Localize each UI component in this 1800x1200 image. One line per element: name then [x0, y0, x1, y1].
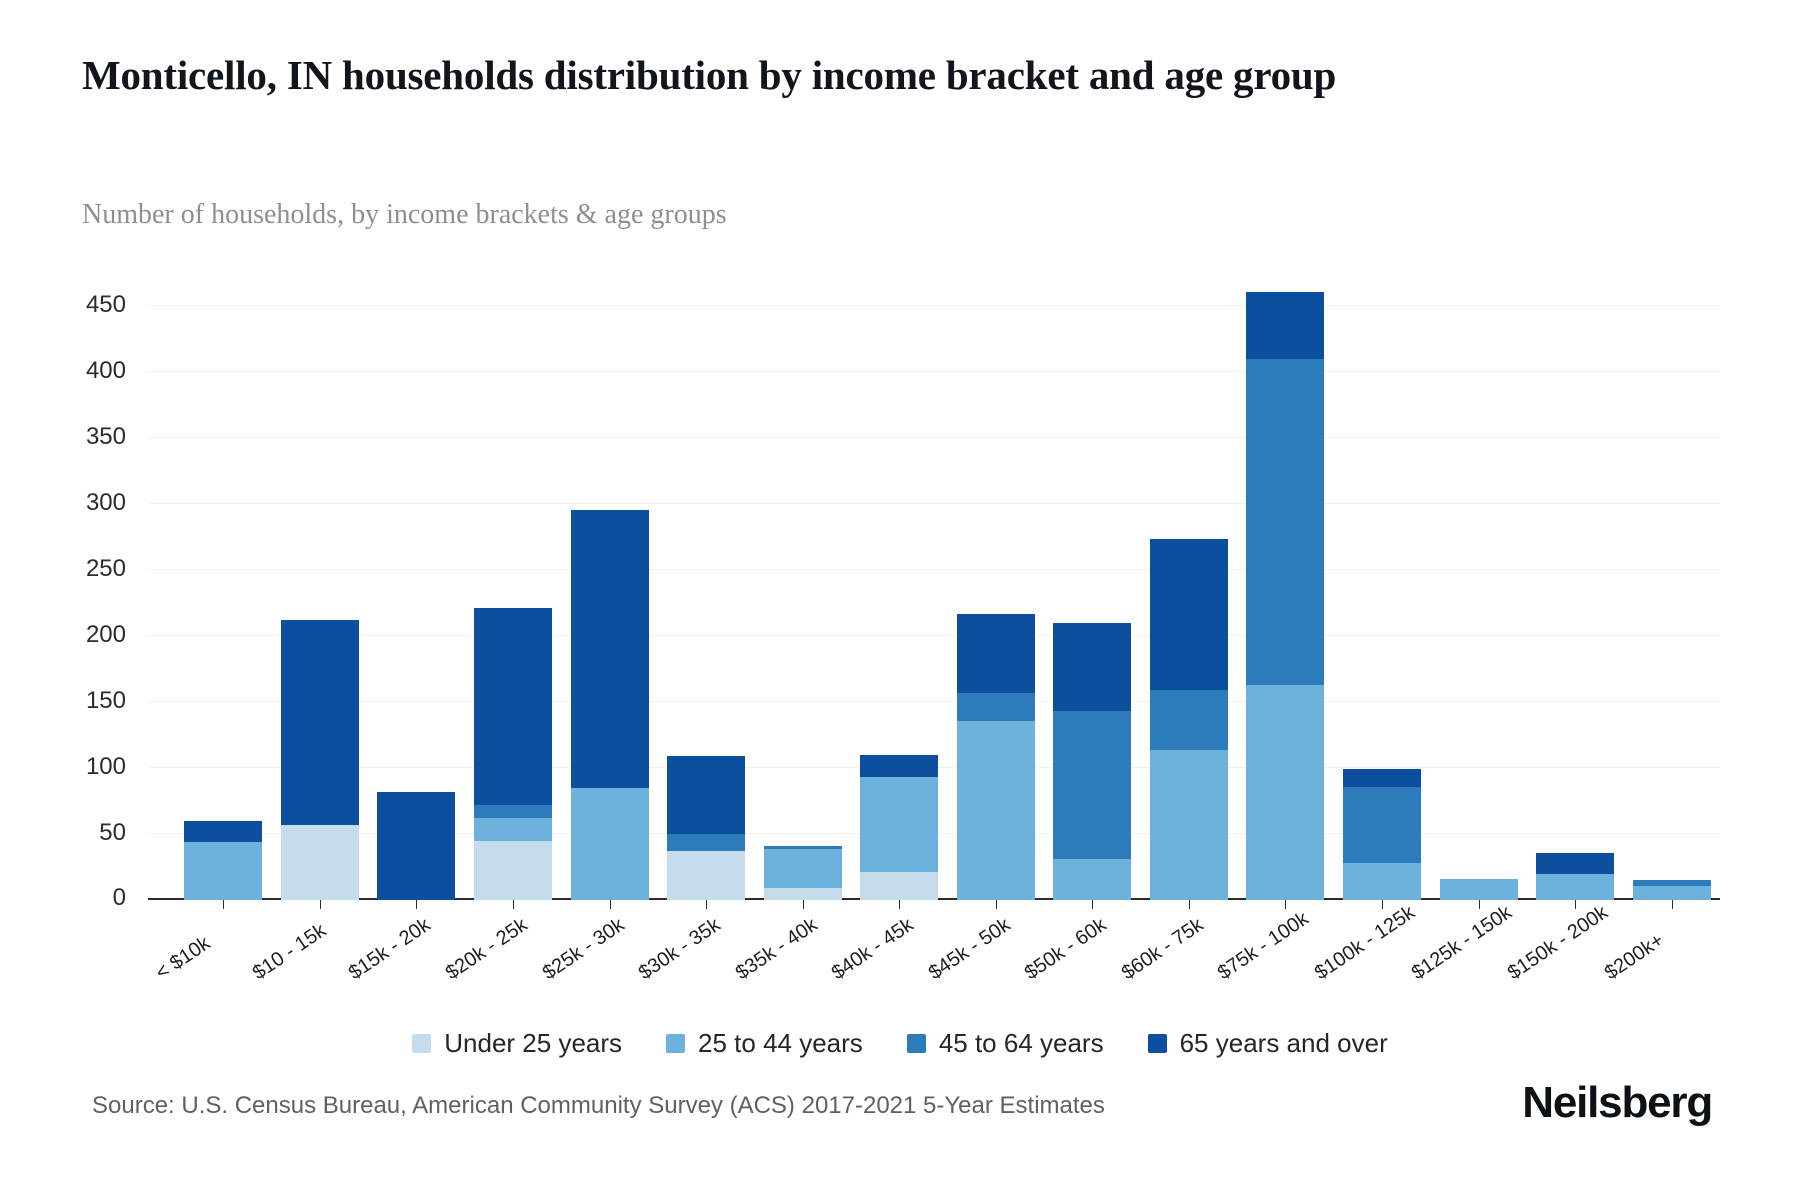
legend-item[interactable]: 45 to 64 years [907, 1028, 1104, 1059]
bar-segment[interactable] [764, 849, 842, 889]
x-axis-tick [1575, 900, 1576, 909]
x-axis-tick [223, 900, 224, 909]
bar-column[interactable]: $20k - 25k [465, 280, 562, 900]
bar-segment[interactable] [957, 693, 1035, 721]
x-axis-tick-label: $75k - 100k [1214, 908, 1314, 986]
bar-column[interactable]: $50k - 60k [1044, 280, 1141, 900]
x-axis-tick [1092, 900, 1093, 909]
x-axis-tick-label: $25k - 30k [538, 914, 628, 985]
chart-legend: Under 25 years25 to 44 years45 to 64 yea… [0, 1028, 1800, 1059]
bar-segment[interactable] [184, 821, 262, 842]
x-axis-tick [320, 900, 321, 909]
legend-item[interactable]: Under 25 years [412, 1028, 622, 1059]
y-axis-tick-label: 400 [86, 357, 126, 385]
stacked-bar[interactable] [281, 620, 359, 900]
bar-segment[interactable] [1343, 787, 1421, 864]
bar-segment[interactable] [1343, 769, 1421, 786]
y-axis-tick-label: 350 [86, 423, 126, 451]
y-axis-tick-label: 300 [86, 489, 126, 517]
bar-segment[interactable] [860, 872, 938, 900]
x-axis-tick [1382, 900, 1383, 909]
stacked-bar[interactable] [1633, 880, 1711, 900]
x-axis-tick [1672, 900, 1673, 909]
stacked-bar[interactable] [1440, 879, 1518, 900]
y-axis-tick-label: 150 [86, 687, 126, 715]
stacked-bar[interactable] [1053, 623, 1131, 900]
bar-segment[interactable] [474, 818, 552, 840]
bar-segment[interactable] [474, 841, 552, 900]
bar-segment[interactable] [474, 805, 552, 818]
bar-segment[interactable] [571, 788, 649, 900]
bar-segment[interactable] [281, 620, 359, 824]
bar-column[interactable]: $40k - 45k [851, 280, 948, 900]
x-axis-tick [1285, 900, 1286, 909]
bar-segment[interactable] [667, 834, 745, 851]
bar-segment[interactable] [571, 510, 649, 788]
x-axis-tick [803, 900, 804, 909]
legend-item-label: 65 years and over [1180, 1028, 1388, 1059]
bar-segment[interactable] [1150, 539, 1228, 691]
bar-segment[interactable] [1246, 359, 1324, 685]
stacked-bar[interactable] [184, 821, 262, 900]
x-axis-tick-label: $60k - 75k [1118, 914, 1208, 985]
x-axis-tick-label: $45k - 50k [924, 914, 1014, 985]
stacked-bar[interactable] [667, 756, 745, 900]
y-axis-tick-label: 0 [113, 884, 126, 912]
bar-segment[interactable] [957, 614, 1035, 693]
x-axis-tick-label: $125k - 150k [1407, 901, 1516, 985]
stacked-bar[interactable] [860, 755, 938, 900]
bar-series-container: < $10k$10 - 15k$15k - 20k$20k - 25k$25k … [175, 280, 1720, 900]
stacked-bar[interactable] [764, 846, 842, 900]
bar-column[interactable]: $35k - 40k [754, 280, 851, 900]
x-axis-tick [899, 900, 900, 909]
bar-segment[interactable] [377, 792, 455, 900]
x-axis-tick-label: < $10k [152, 932, 215, 985]
bar-column[interactable]: < $10k [175, 280, 272, 900]
bar-segment[interactable] [184, 842, 262, 900]
bar-column[interactable]: $60k - 75k [1141, 280, 1238, 900]
x-axis-tick-label: $50k - 60k [1021, 914, 1111, 985]
bar-segment[interactable] [667, 756, 745, 834]
legend-item-label: 25 to 44 years [698, 1028, 863, 1059]
stacked-bar[interactable] [957, 614, 1035, 900]
legend-swatch-icon [907, 1034, 926, 1053]
bar-segment[interactable] [1246, 685, 1324, 900]
bar-column[interactable]: $15k - 20k [368, 280, 465, 900]
bar-segment[interactable] [667, 851, 745, 900]
y-axis-tick-label: 50 [99, 819, 126, 847]
bar-segment[interactable] [1053, 711, 1131, 859]
x-axis-tick-label: $30k - 35k [635, 914, 725, 985]
x-axis-tick [1189, 900, 1190, 909]
y-axis-tick-label: 200 [86, 621, 126, 649]
legend-item-label: Under 25 years [444, 1028, 622, 1059]
x-axis-tick-label: $10 - 15k [249, 919, 331, 985]
bar-segment[interactable] [957, 721, 1035, 900]
bar-segment[interactable] [1053, 859, 1131, 900]
y-axis-tick-label: 250 [86, 555, 126, 583]
stacked-bar[interactable] [1343, 769, 1421, 900]
bar-column[interactable]: $200k+ [1623, 280, 1720, 900]
stacked-bar[interactable] [1246, 292, 1324, 900]
bar-segment[interactable] [1053, 623, 1131, 711]
bar-column[interactable]: $150k - 200k [1527, 280, 1624, 900]
y-axis-tick-label: 450 [86, 291, 126, 319]
x-axis-tick-label: $35k - 40k [731, 914, 821, 985]
bar-segment[interactable] [860, 777, 938, 872]
bar-column[interactable]: $10 - 15k [272, 280, 369, 900]
bar-segment[interactable] [860, 755, 938, 777]
bar-segment[interactable] [764, 888, 842, 900]
bar-segment[interactable] [1536, 853, 1614, 874]
bar-segment[interactable] [1150, 750, 1228, 900]
legend-swatch-icon [412, 1034, 431, 1053]
x-axis-tick-label: $200k+ [1600, 929, 1668, 985]
bar-segment[interactable] [474, 608, 552, 805]
x-axis-tick [996, 900, 997, 909]
page-subtitle: Number of households, by income brackets… [82, 198, 1382, 232]
plot-area: 050100150200250300350400450 < $10k$10 - … [175, 280, 1720, 900]
x-axis-tick-label: $15k - 20k [345, 914, 435, 985]
y-axis-tick-label: 100 [86, 753, 126, 781]
bar-segment[interactable] [1440, 879, 1518, 900]
bar-column[interactable]: $125k - 150k [1430, 280, 1527, 900]
x-axis-tick [513, 900, 514, 909]
bar-segment[interactable] [1536, 874, 1614, 900]
x-axis-tick-label: $40k - 45k [828, 914, 918, 985]
legend-item[interactable]: 65 years and over [1148, 1028, 1388, 1059]
bar-segment[interactable] [281, 825, 359, 900]
bar-column[interactable]: $30k - 35k [658, 280, 755, 900]
legend-swatch-icon [1148, 1034, 1167, 1053]
stacked-bar[interactable] [571, 510, 649, 900]
x-axis-tick [1479, 900, 1480, 909]
bar-segment[interactable] [1633, 886, 1711, 901]
source-note: Source: U.S. Census Bureau, American Com… [92, 1092, 1105, 1120]
stacked-bar[interactable] [377, 792, 455, 900]
bar-column[interactable]: $25k - 30k [561, 280, 658, 900]
legend-item-label: 45 to 64 years [939, 1028, 1104, 1059]
x-axis-tick-label: $100k - 125k [1311, 901, 1420, 985]
bar-segment[interactable] [1150, 690, 1228, 749]
legend-item[interactable]: 25 to 44 years [666, 1028, 863, 1059]
page-title: Monticello, IN households distribution b… [82, 50, 1642, 100]
bar-column[interactable]: $75k - 100k [1237, 280, 1334, 900]
bar-segment[interactable] [1246, 292, 1324, 359]
x-axis-tick-label: $20k - 25k [442, 914, 532, 985]
chart-page: Monticello, IN households distribution b… [0, 0, 1800, 1200]
stacked-bar[interactable] [1150, 539, 1228, 900]
x-axis-tick [416, 900, 417, 909]
legend-swatch-icon [666, 1034, 685, 1053]
bar-segment[interactable] [1343, 863, 1421, 900]
bar-column[interactable]: $45k - 50k [948, 280, 1045, 900]
x-axis-tick [610, 900, 611, 909]
brand-logo: Neilsberg [1522, 1078, 1712, 1128]
stacked-bar[interactable] [474, 608, 552, 900]
stacked-bar[interactable] [1536, 853, 1614, 900]
bar-column[interactable]: $100k - 125k [1334, 280, 1431, 900]
x-axis-tick [706, 900, 707, 909]
x-axis-tick-label: $150k - 200k [1504, 901, 1613, 985]
